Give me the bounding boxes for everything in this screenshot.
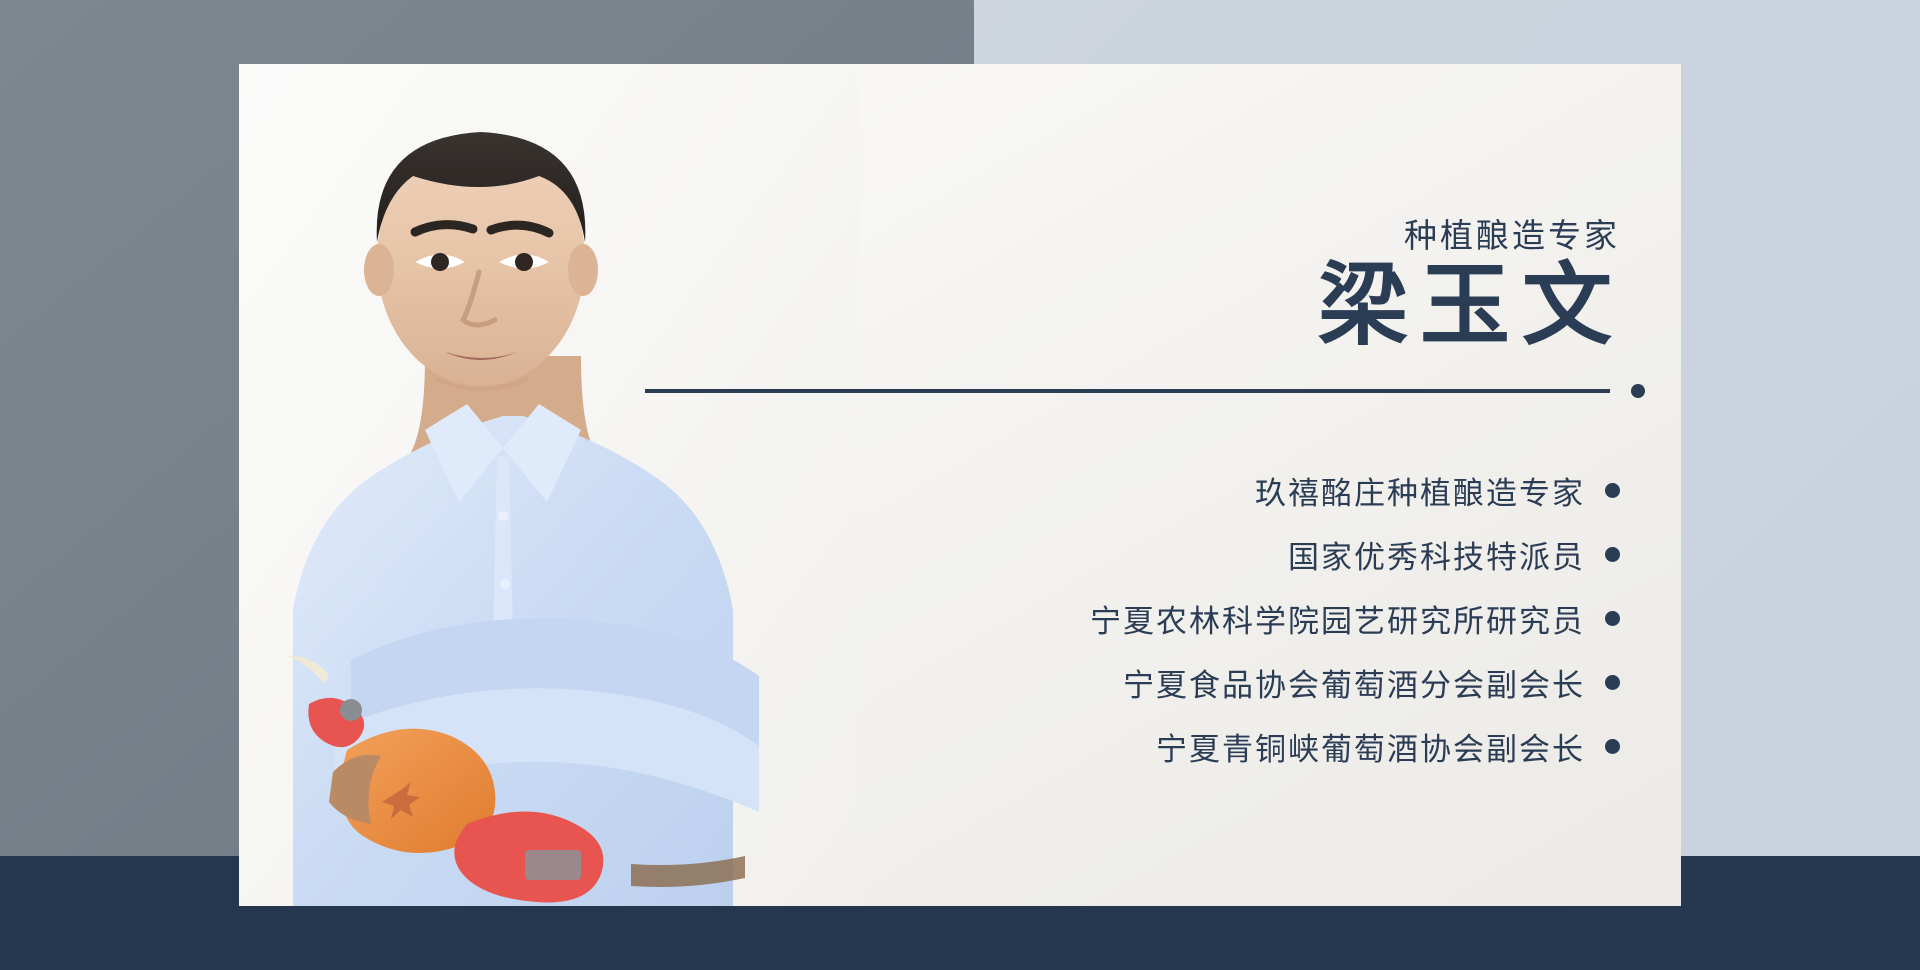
profile-banner: 种植酿造专家 梁玉文 玖禧酩庄种植酿造专家 国家优秀科技特派员 宁夏农林科学院园… <box>0 0 1920 970</box>
portrait-photo <box>239 64 859 906</box>
profile-card: 种植酿造专家 梁玉文 玖禧酩庄种植酿造专家 国家优秀科技特派员 宁夏农林科学院园… <box>239 64 1681 906</box>
bullet-dot-icon <box>1605 547 1620 562</box>
credential-text: 宁夏食品协会葡萄酒分会副会长 <box>1123 660 1585 705</box>
credential-text: 宁夏农林科学院园艺研究所研究员 <box>1090 596 1585 641</box>
role-label: 种植酿造专家 <box>1404 209 1620 257</box>
list-item: 宁夏农林科学院园艺研究所研究员 <box>800 592 1620 645</box>
divider-end-dot-icon <box>1631 384 1645 398</box>
divider <box>645 384 1645 398</box>
list-item: 宁夏青铜峡葡萄酒协会副会长 <box>800 720 1620 773</box>
credential-text: 国家优秀科技特派员 <box>1288 532 1585 577</box>
bullet-dot-icon <box>1605 611 1620 626</box>
person-name: 梁玉文 <box>1318 254 1624 360</box>
bullet-dot-icon <box>1605 739 1620 754</box>
bullet-dot-icon <box>1605 483 1620 498</box>
list-item: 宁夏食品协会葡萄酒分会副会长 <box>800 656 1620 709</box>
credential-text: 宁夏青铜峡葡萄酒协会副会长 <box>1156 724 1585 769</box>
list-item: 玖禧酩庄种植酿造专家 <box>800 464 1620 517</box>
divider-line <box>645 389 1610 393</box>
list-item: 国家优秀科技特派员 <box>800 528 1620 581</box>
credential-text: 玖禧酩庄种植酿造专家 <box>1255 468 1585 513</box>
credentials-list: 玖禧酩庄种植酿造专家 国家优秀科技特派员 宁夏农林科学院园艺研究所研究员 宁夏食… <box>800 464 1620 784</box>
bullet-dot-icon <box>1605 675 1620 690</box>
